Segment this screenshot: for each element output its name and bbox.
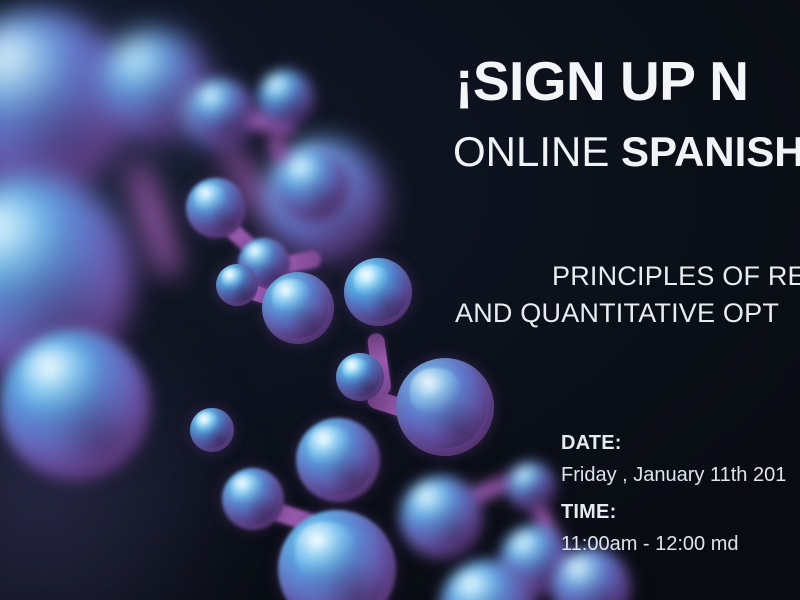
headline-secondary: ONLINE SPANISH xyxy=(453,128,800,176)
course-title-line1: PRINCIPLES OF RE xyxy=(455,258,800,295)
event-details: DATE: Friday , January 11th 201 TIME: 11… xyxy=(561,428,786,566)
course-title-line2: AND QUANTITATIVE OPT xyxy=(455,295,800,332)
headline-line1: ¡SIGN UP N xyxy=(455,50,748,112)
time-label: TIME: xyxy=(561,497,786,528)
course-title: PRINCIPLES OF RE AND QUANTITATIVE OPT xyxy=(455,258,800,333)
date-label: DATE: xyxy=(561,428,786,459)
headline-line2-light: ONLINE xyxy=(453,128,621,175)
date-value: Friday , January 11th 201 xyxy=(561,459,786,491)
text-content: ¡SIGN UP N ONLINE SPANISH PRINCIPLES OF … xyxy=(0,0,800,600)
headline-primary: ¡SIGN UP N xyxy=(455,52,748,110)
time-value: 11:00am - 12:00 md xyxy=(561,528,786,560)
webinar-poster: ¡SIGN UP N ONLINE SPANISH PRINCIPLES OF … xyxy=(0,0,800,600)
headline-line2-bold: SPANISH xyxy=(621,128,800,175)
